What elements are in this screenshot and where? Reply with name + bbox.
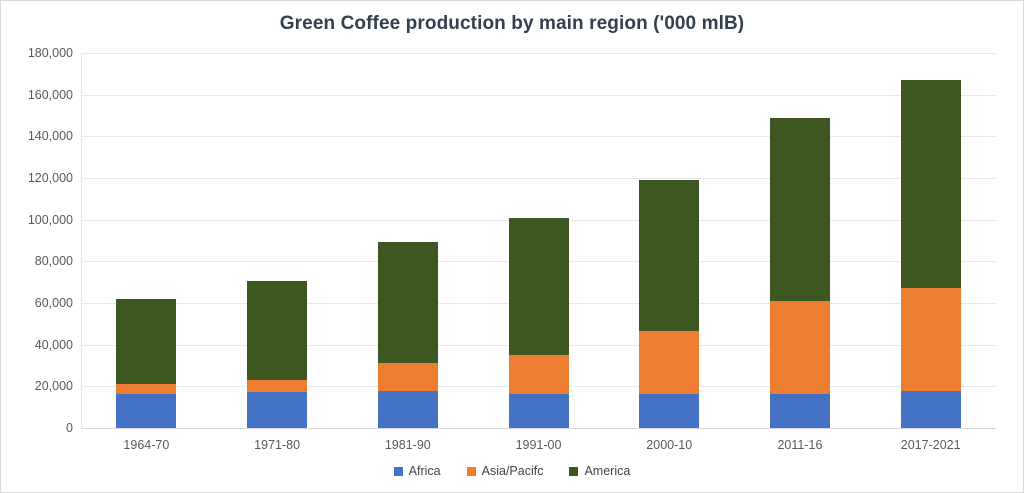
y-axis-labels: 180,000160,000140,000120,000100,00080,00… xyxy=(1,53,73,428)
x-axis-tick-label: 2017-2021 xyxy=(865,432,996,452)
bar-segment-america[interactable] xyxy=(116,299,176,384)
bar-segment-africa[interactable] xyxy=(901,391,961,428)
bar-slot xyxy=(865,53,996,428)
chart-page: Green Coffee production by main region (… xyxy=(0,0,1024,493)
stacked-bar[interactable] xyxy=(901,80,961,428)
bar-segment-america[interactable] xyxy=(639,180,699,331)
y-axis-tick-label: 80,000 xyxy=(35,254,73,268)
legend-label: Asia/Pacifc xyxy=(482,464,544,478)
stacked-bar[interactable] xyxy=(247,281,307,428)
y-axis-tick-label: 20,000 xyxy=(35,379,73,393)
bar-segment-africa[interactable] xyxy=(770,394,830,428)
axis-baseline xyxy=(81,428,996,429)
y-axis-tick-label: 120,000 xyxy=(28,171,73,185)
stacked-bar[interactable] xyxy=(116,299,176,428)
bar-slot xyxy=(81,53,212,428)
bar-segment-asia-pacifc[interactable] xyxy=(247,380,307,392)
x-axis-tick-label: 1981-90 xyxy=(342,432,473,452)
x-axis-tick-label: 1971-80 xyxy=(212,432,343,452)
x-axis-labels: 1964-701971-801981-901991-002000-102011-… xyxy=(81,432,996,452)
stacked-bar[interactable] xyxy=(378,242,438,428)
x-axis-tick-label: 2000-10 xyxy=(604,432,735,452)
y-axis-tick-label: 100,000 xyxy=(28,213,73,227)
bar-segment-america[interactable] xyxy=(901,80,961,288)
bar-segment-asia-pacifc[interactable] xyxy=(378,363,438,391)
bar-slot xyxy=(212,53,343,428)
y-axis-tick-label: 140,000 xyxy=(28,129,73,143)
legend-label: America xyxy=(584,464,630,478)
bar-slot xyxy=(342,53,473,428)
chart-title: Green Coffee production by main region (… xyxy=(1,13,1023,35)
plot-area xyxy=(81,53,996,428)
bar-segment-africa[interactable] xyxy=(378,391,438,428)
bar-segment-africa[interactable] xyxy=(247,392,307,428)
y-axis-tick-label: 160,000 xyxy=(28,88,73,102)
stacked-bar[interactable] xyxy=(639,180,699,428)
bar-segment-asia-pacifc[interactable] xyxy=(116,384,176,394)
bar-series-group xyxy=(81,53,996,428)
legend-item[interactable]: America xyxy=(569,464,630,478)
bar-segment-africa[interactable] xyxy=(509,394,569,428)
bar-slot xyxy=(604,53,735,428)
bar-segment-africa[interactable] xyxy=(639,394,699,428)
y-axis-tick-label: 60,000 xyxy=(35,296,73,310)
legend-swatch-icon xyxy=(569,467,578,476)
y-axis-tick-label: 180,000 xyxy=(28,46,73,60)
bar-segment-asia-pacifc[interactable] xyxy=(901,288,961,391)
bar-segment-asia-pacifc[interactable] xyxy=(509,355,569,394)
legend-item[interactable]: Asia/Pacifc xyxy=(467,464,544,478)
bar-segment-america[interactable] xyxy=(247,281,307,380)
x-axis-tick-label: 1964-70 xyxy=(81,432,212,452)
legend-swatch-icon xyxy=(394,467,403,476)
legend-label: Africa xyxy=(409,464,441,478)
stacked-bar[interactable] xyxy=(770,118,830,428)
legend-swatch-icon xyxy=(467,467,476,476)
y-axis-tick-label: 0 xyxy=(66,421,73,435)
bar-slot xyxy=(735,53,866,428)
bar-segment-america[interactable] xyxy=(770,118,830,301)
bar-segment-america[interactable] xyxy=(509,218,569,355)
bar-segment-america[interactable] xyxy=(378,242,438,363)
bar-segment-asia-pacifc[interactable] xyxy=(770,301,830,394)
bar-slot xyxy=(473,53,604,428)
x-axis-tick-label: 1991-00 xyxy=(473,432,604,452)
bar-segment-africa[interactable] xyxy=(116,394,176,428)
chart-legend: AfricaAsia/PacifcAmerica xyxy=(1,464,1023,478)
x-axis-tick-label: 2011-16 xyxy=(735,432,866,452)
legend-item[interactable]: Africa xyxy=(394,464,441,478)
bar-segment-asia-pacifc[interactable] xyxy=(639,331,699,394)
y-axis-tick-label: 40,000 xyxy=(35,338,73,352)
stacked-bar[interactable] xyxy=(509,218,569,428)
